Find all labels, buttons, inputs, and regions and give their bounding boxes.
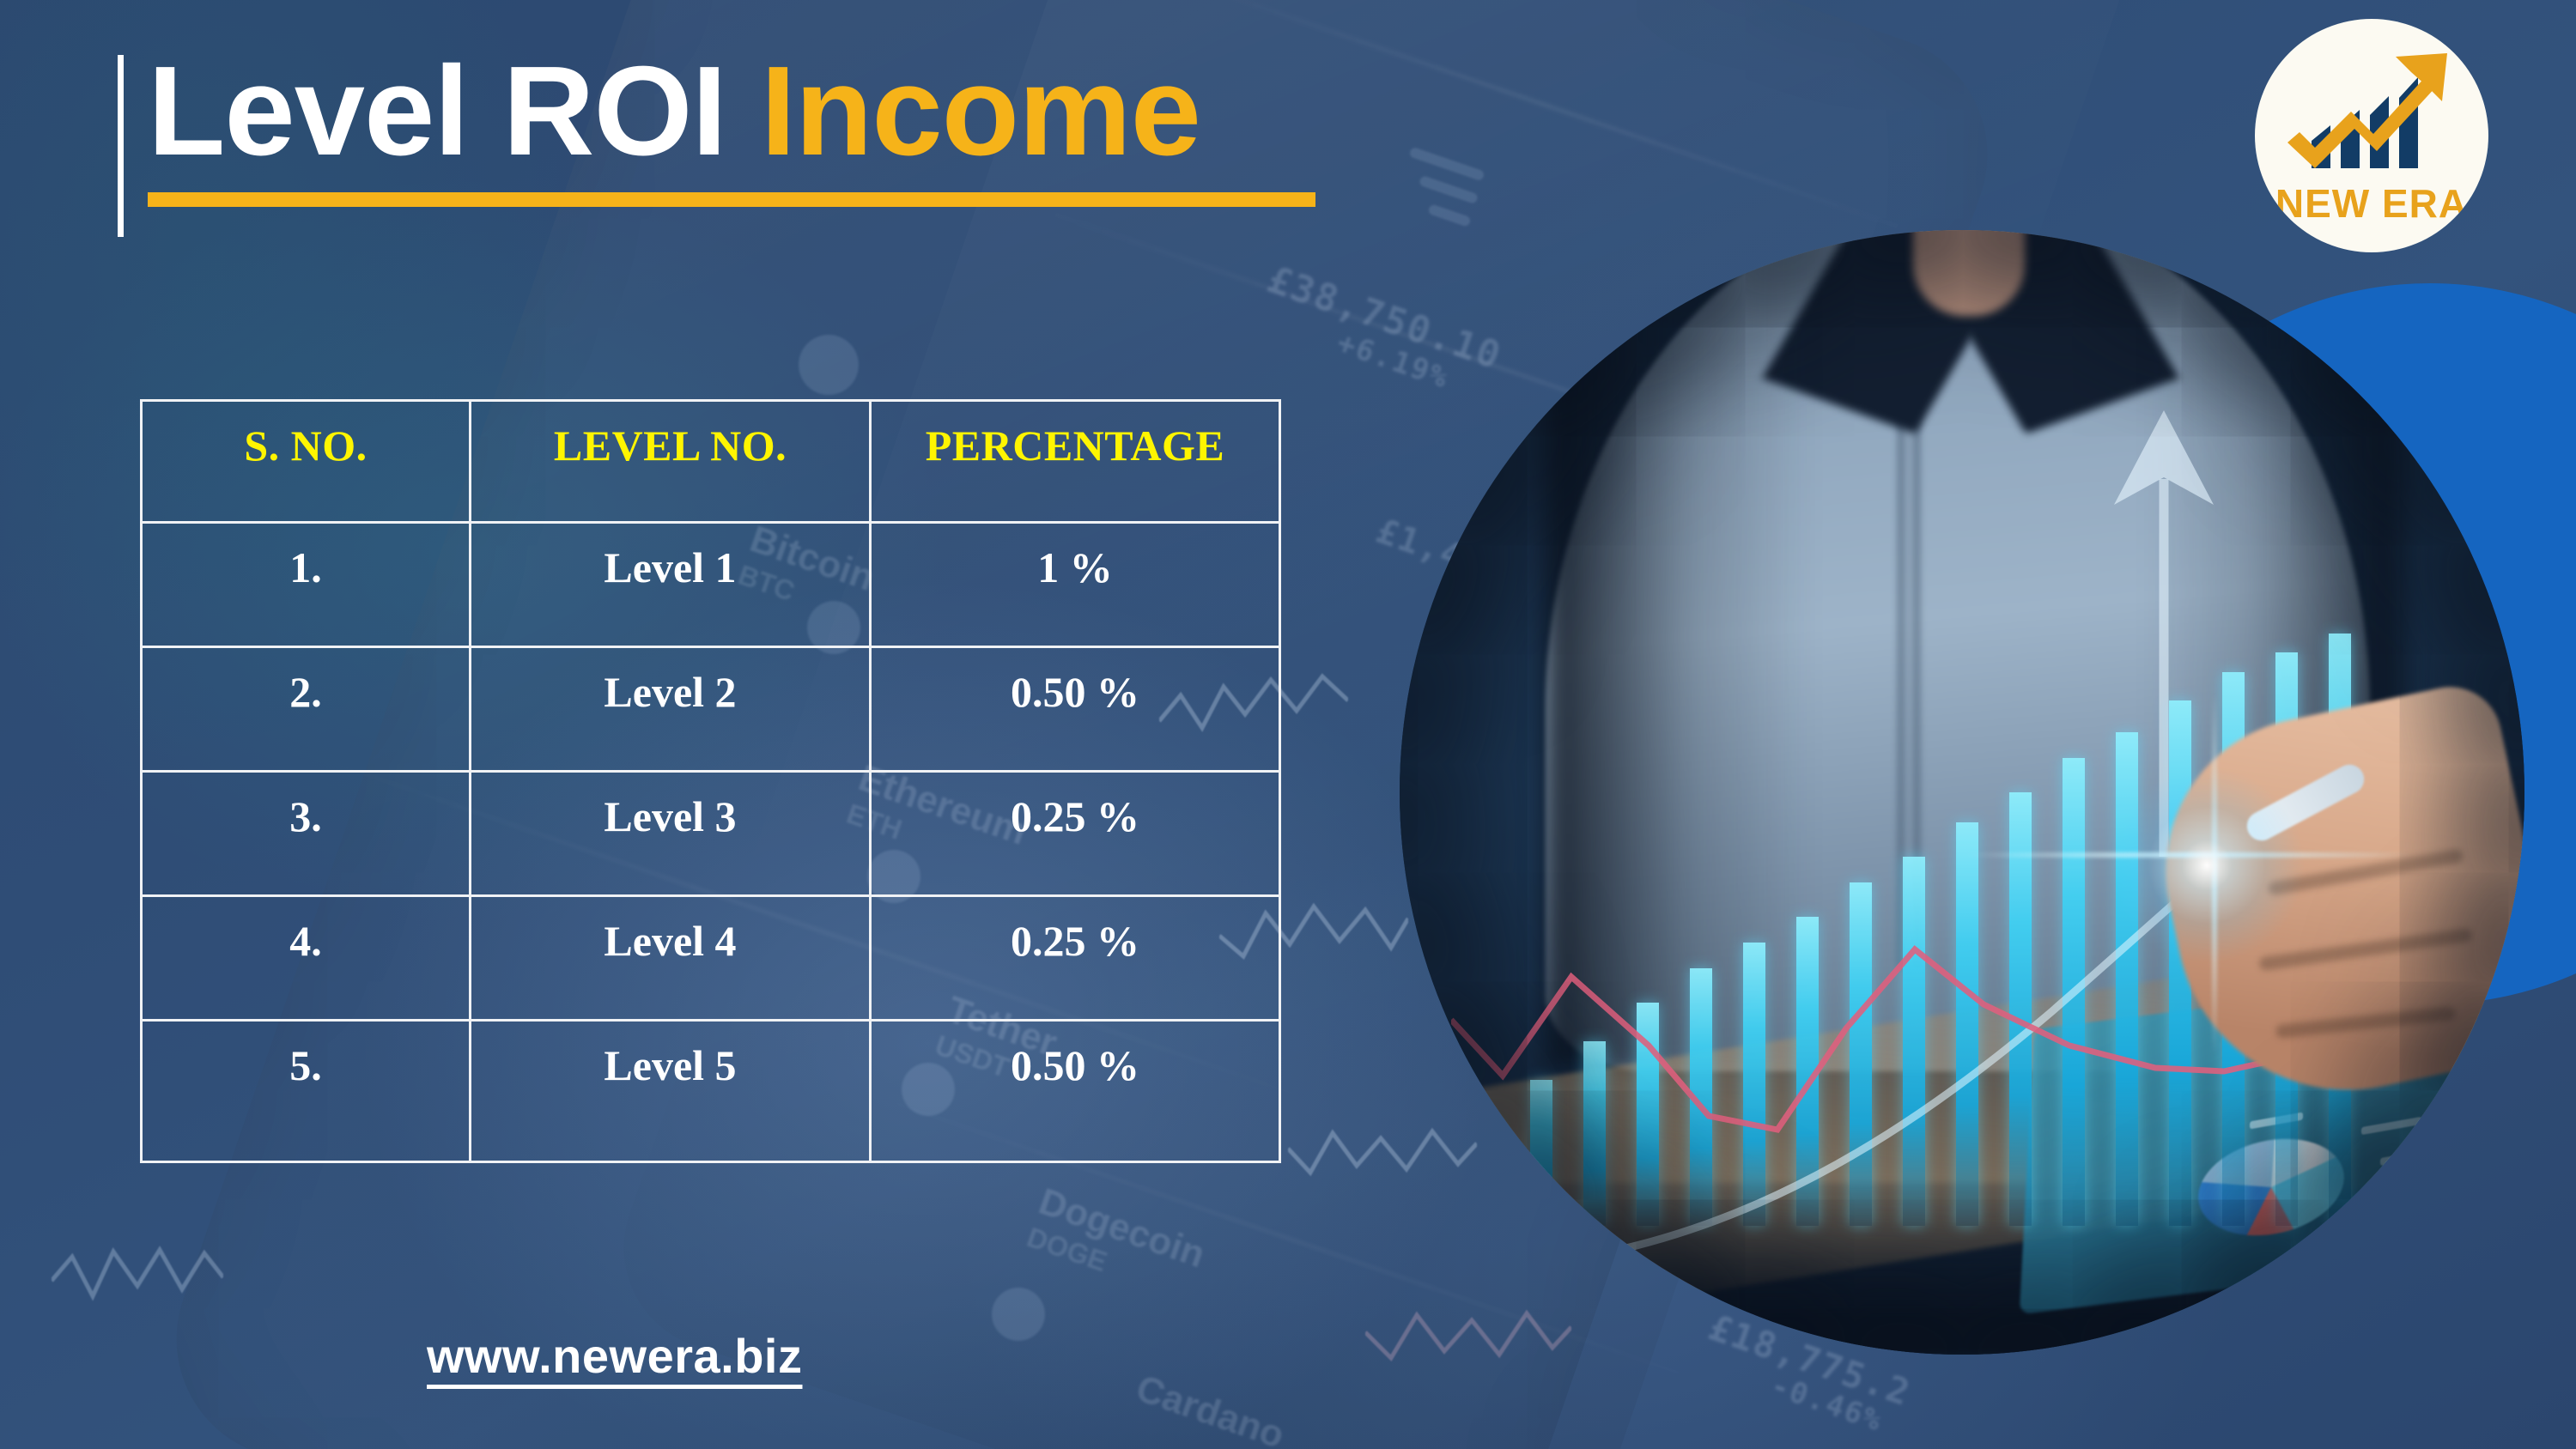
cell-sno: 4. (142, 896, 471, 1021)
cell-level: Level 3 (471, 772, 871, 896)
cell-level: Level 2 (471, 647, 871, 772)
title-accent-bar (118, 55, 124, 237)
cell-percentage: 0.50 % (871, 647, 1280, 772)
footer-website-url[interactable]: www.newera.biz (427, 1328, 802, 1384)
cell-percentage: 0.25 % (871, 772, 1280, 896)
hero-photo-circle (1400, 230, 2524, 1355)
page-title-accent: Income (726, 40, 1200, 182)
cell-level: Level 4 (471, 896, 871, 1021)
table-row: 3. Level 3 0.25 % (142, 772, 1280, 896)
table-header-row: S. NO. LEVEL NO. PERCENTAGE (142, 401, 1280, 523)
cell-sno: 1. (142, 523, 471, 647)
cell-percentage: 0.50 % (871, 1021, 1280, 1162)
roi-income-table: S. NO. LEVEL NO. PERCENTAGE 1. Level 1 1… (140, 399, 1281, 1163)
column-header-percentage: PERCENTAGE (871, 401, 1280, 523)
cell-sno: 3. (142, 772, 471, 896)
table-row: 4. Level 4 0.25 % (142, 896, 1280, 1021)
brand-logo-text: NEW ERA (2275, 180, 2468, 227)
cell-percentage: 1 % (871, 523, 1280, 647)
cell-sno: 2. (142, 647, 471, 772)
slide-root: £38,750.10 +6.19% £1,449 £18,775.2 -0.46… (0, 0, 2576, 1449)
page-title: Level ROI Income (148, 48, 1200, 175)
page-title-primary: Level ROI (148, 40, 726, 182)
growth-chart-arrow-icon (2287, 48, 2456, 177)
table-row: 5. Level 5 0.50 % (142, 1021, 1280, 1162)
table-row: 1. Level 1 1 % (142, 523, 1280, 647)
cell-sno: 5. (142, 1021, 471, 1162)
background-sparkline (52, 1228, 223, 1322)
background-coin-icon (992, 1288, 1045, 1341)
cell-level: Level 1 (471, 523, 871, 647)
brand-logo[interactable]: NEW ERA (2255, 19, 2488, 252)
table-row: 2. Level 2 0.50 % (142, 647, 1280, 772)
column-header-level-no: LEVEL NO. (471, 401, 871, 523)
column-header-sno: S. NO. (142, 401, 471, 523)
title-underline (148, 192, 1315, 207)
photo-pen-tip-glow (2108, 767, 2306, 964)
cell-level: Level 5 (471, 1021, 871, 1162)
background-coin-icon (799, 335, 859, 395)
cell-percentage: 0.25 % (871, 896, 1280, 1021)
